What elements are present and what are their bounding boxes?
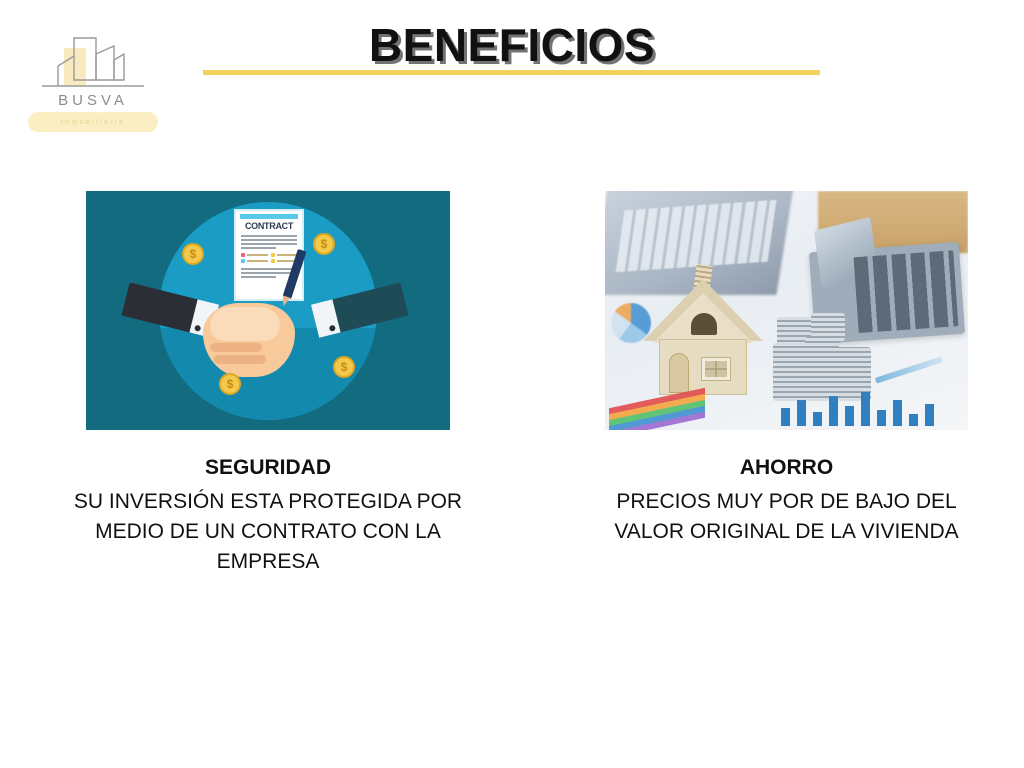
benefit-card-seguridad: CONTRACT xyxy=(86,191,450,430)
finger xyxy=(210,343,262,352)
benefit-body: PRECIOS MUY POR DE BAJO DEL VALOR ORIGIN… xyxy=(583,487,990,547)
brand-tagline-badge: Inmobiliaria xyxy=(28,112,158,132)
benefit-heading: SEGURIDAD xyxy=(56,453,480,483)
finger xyxy=(214,355,266,364)
brand-tagline: Inmobiliaria xyxy=(61,119,126,126)
benefit-card-ahorro: AHORRO PRECIOS MUY POR DE BAJO DEL VALOR… xyxy=(605,191,968,430)
benefit-body: SU INVERSIÓN ESTA PROTEGIDA POR MEDIO DE… xyxy=(56,487,480,577)
coin-icon: $ xyxy=(219,373,241,395)
contract-header-bar xyxy=(240,214,298,219)
benefit-caption-ahorro: AHORRO PRECIOS MUY POR DE BAJO DEL VALOR… xyxy=(583,453,990,547)
coin-icon: $ xyxy=(182,243,204,265)
handshake-highlight xyxy=(210,307,280,341)
benefit-caption-seguridad: SEGURIDAD SU INVERSIÓN ESTA PROTEGIDA PO… xyxy=(56,453,480,577)
contract-title: CONTRACT xyxy=(236,221,302,232)
calculator-keys xyxy=(853,250,958,333)
page-title: BENEFICIOS xyxy=(0,18,1024,72)
laptop-keyboard xyxy=(616,200,777,272)
house-model-coins-calculator-photo xyxy=(605,191,968,430)
house-attic-window xyxy=(691,313,717,335)
brand-name: BUSVA xyxy=(28,92,158,109)
contract-checkbox-rows xyxy=(241,253,297,265)
handshake-contract-illustration: CONTRACT xyxy=(86,191,450,430)
title-underline-rule xyxy=(203,70,820,75)
contract-text-lines xyxy=(241,235,297,249)
coin-icon: $ xyxy=(333,356,355,378)
benefit-heading: AHORRO xyxy=(583,453,990,483)
coin-icon: $ xyxy=(313,233,335,255)
